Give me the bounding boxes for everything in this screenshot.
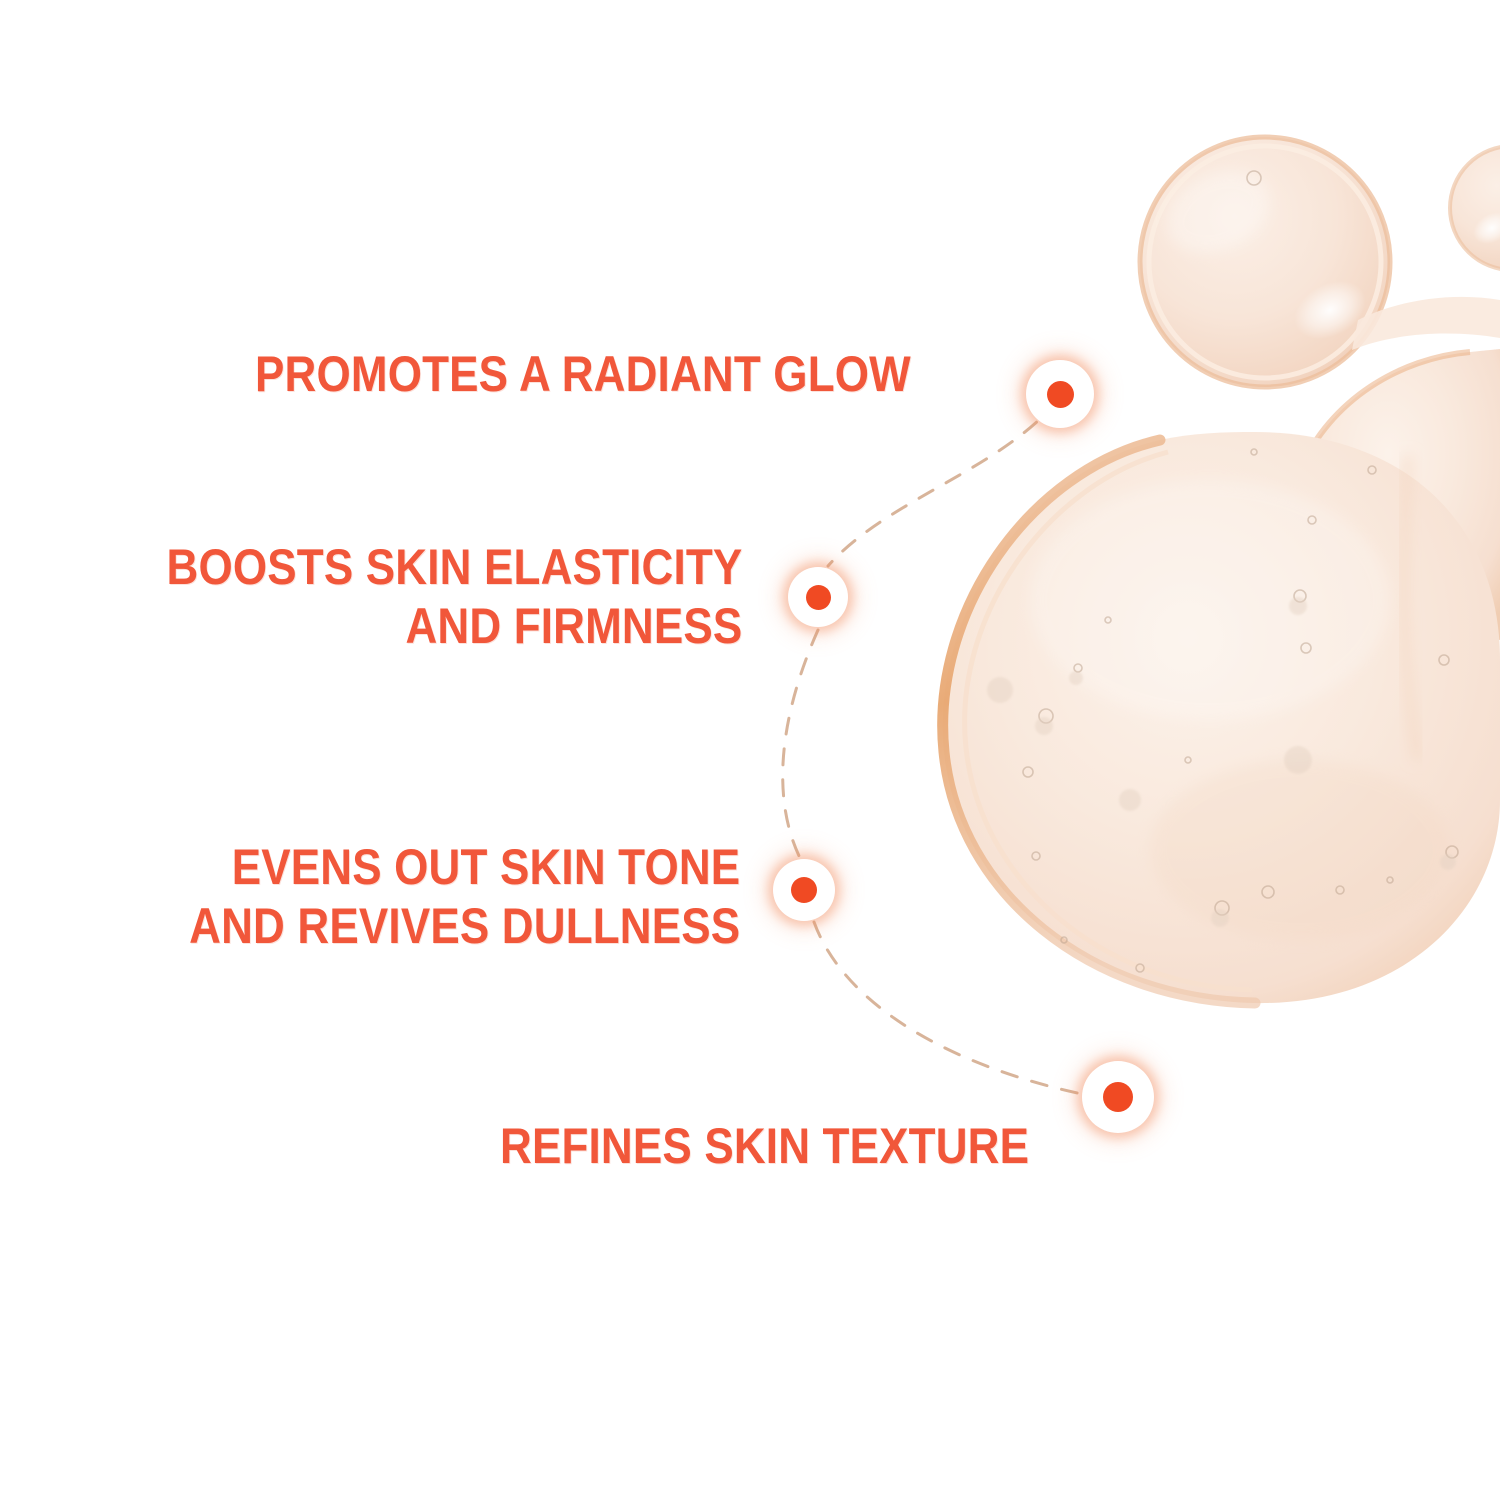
- benefit-marker-1[interactable]: [1026, 360, 1094, 428]
- serum-blob-junction: [1352, 297, 1500, 350]
- benefit-label-line: AND REVIVES DULLNESS: [189, 897, 740, 956]
- benefit-label-line: PROMOTES A RADIANT GLOW: [255, 345, 911, 404]
- benefit-label-boosts-skin-elasticity-and-firmness: BOOSTS SKIN ELASTICITY AND FIRMNESS: [166, 538, 742, 656]
- marker-core-icon: [1047, 381, 1074, 408]
- infographic-canvas: PROMOTES A RADIANT GLOW BOOSTS SKIN ELAS…: [0, 0, 1500, 1500]
- benefit-marker-3[interactable]: [773, 859, 835, 921]
- dashed-connector-curve: [783, 400, 1082, 1094]
- marker-core-icon: [806, 585, 831, 610]
- benefit-marker-4[interactable]: [1082, 1061, 1154, 1133]
- benefit-label-line: AND FIRMNESS: [166, 597, 742, 656]
- serum-bubble-right-edge: [1450, 146, 1500, 270]
- benefit-label-evens-out-skin-tone-and-revives-dullness: EVENS OUT SKIN TONE AND REVIVES DULLNESS: [189, 838, 740, 956]
- serum-micro-bubbles: [1023, 449, 1458, 972]
- serum-bubble-top: [1140, 137, 1390, 387]
- benefit-label-promotes-a-radiant-glow: PROMOTES A RADIANT GLOW: [255, 345, 911, 404]
- benefit-label-line: BOOSTS SKIN ELASTICITY: [166, 538, 742, 597]
- serum-texture-artwork: [0, 0, 1500, 1500]
- benefit-marker-2[interactable]: [788, 567, 848, 627]
- marker-core-icon: [1103, 1082, 1133, 1112]
- serum-main-blob: [943, 432, 1500, 1003]
- serum-micro-bubble-shadows: [987, 597, 1456, 927]
- serum-blob-upper-arm: [1300, 349, 1500, 640]
- benefit-label-line: REFINES SKIN TEXTURE: [500, 1117, 1029, 1176]
- benefit-label-line: EVENS OUT SKIN TONE: [189, 838, 740, 897]
- marker-core-icon: [791, 877, 817, 903]
- benefit-label-refines-skin-texture: REFINES SKIN TEXTURE: [500, 1117, 1029, 1176]
